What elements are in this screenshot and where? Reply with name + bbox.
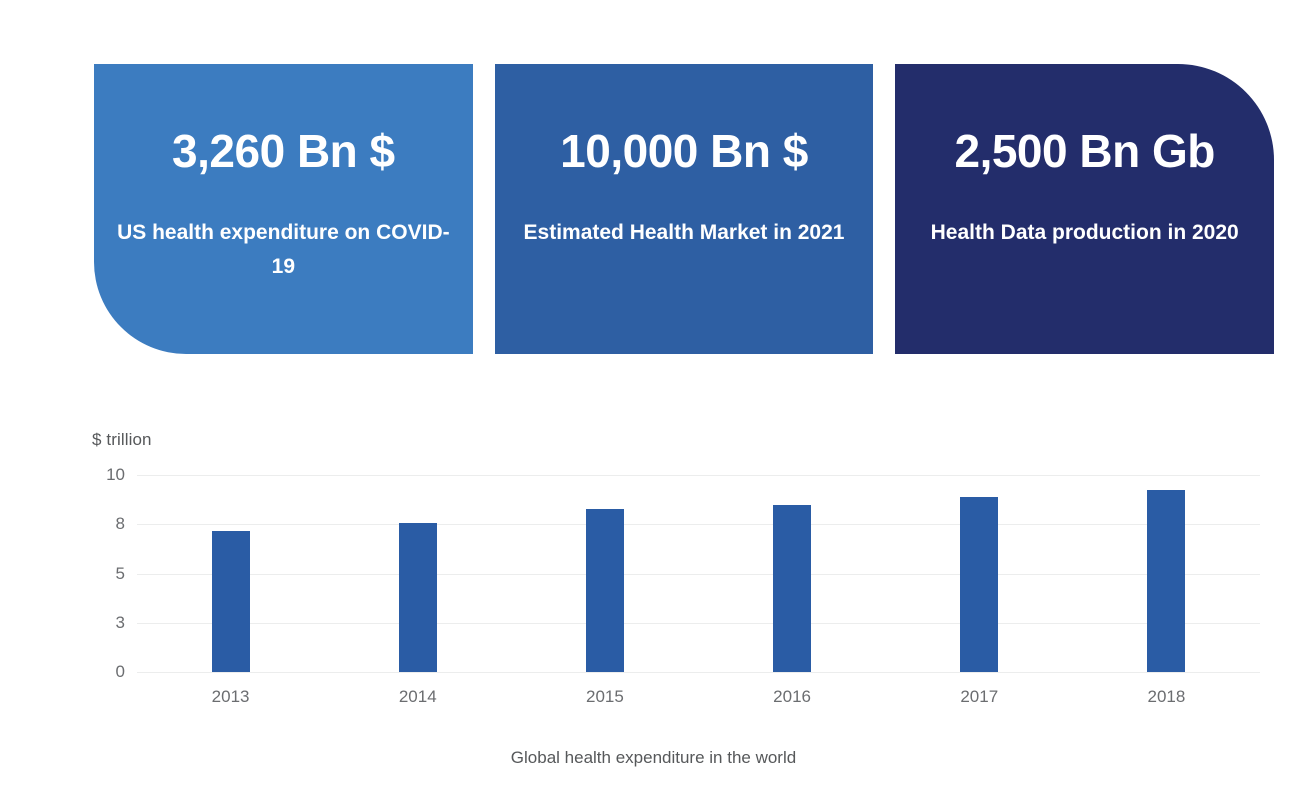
x-axis-tick-label: 2016 xyxy=(773,687,811,707)
gridline xyxy=(137,475,1260,476)
bar[interactable] xyxy=(212,531,250,672)
x-axis-tick-label: 2017 xyxy=(960,687,998,707)
x-axis-tick-label: 2013 xyxy=(212,687,250,707)
bar[interactable] xyxy=(960,497,998,672)
kpi-value: 10,000 Bn $ xyxy=(560,128,808,174)
gridline xyxy=(137,574,1260,575)
bar-chart: $ trillion 108530 2013201420152016201720… xyxy=(0,418,1307,806)
plot-area: 201320142015201620172018 xyxy=(137,475,1260,672)
y-axis-tick-label: 3 xyxy=(85,613,125,633)
kpi-card-health-data-production[interactable]: 2,500 Bn Gb Health Data production in 20… xyxy=(895,64,1274,354)
gridline xyxy=(137,623,1260,624)
bar[interactable] xyxy=(399,523,437,672)
y-axis-tick-labels: 108530 xyxy=(85,475,125,672)
bar[interactable] xyxy=(586,509,624,672)
bar[interactable] xyxy=(1147,490,1185,672)
kpi-label: US health expenditure on COVID-19 xyxy=(94,216,473,284)
y-axis-tick-label: 8 xyxy=(85,514,125,534)
kpi-value: 3,260 Bn $ xyxy=(172,128,395,174)
y-axis-title: $ trillion xyxy=(92,430,152,450)
kpi-card-estimated-health-market[interactable]: 10,000 Bn $ Estimated Health Market in 2… xyxy=(495,64,874,354)
kpi-value: 2,500 Bn Gb xyxy=(954,128,1214,174)
kpi-card-us-health-expenditure[interactable]: 3,260 Bn $ US health expenditure on COVI… xyxy=(94,64,473,354)
kpi-label: Estimated Health Market in 2021 xyxy=(510,216,859,250)
y-axis-tick-label: 10 xyxy=(85,465,125,485)
x-axis-tick-label: 2015 xyxy=(586,687,624,707)
x-axis-tick-label: 2018 xyxy=(1147,687,1185,707)
y-axis-tick-label: 0 xyxy=(85,662,125,682)
gridline xyxy=(137,524,1260,525)
gridline xyxy=(137,672,1260,673)
bar[interactable] xyxy=(773,505,811,672)
y-axis-tick-label: 5 xyxy=(85,564,125,584)
kpi-card-row: 3,260 Bn $ US health expenditure on COVI… xyxy=(94,64,1274,354)
kpi-label: Health Data production in 2020 xyxy=(917,216,1253,250)
x-axis-tick-label: 2014 xyxy=(399,687,437,707)
chart-caption: Global health expenditure in the world xyxy=(0,748,1307,768)
